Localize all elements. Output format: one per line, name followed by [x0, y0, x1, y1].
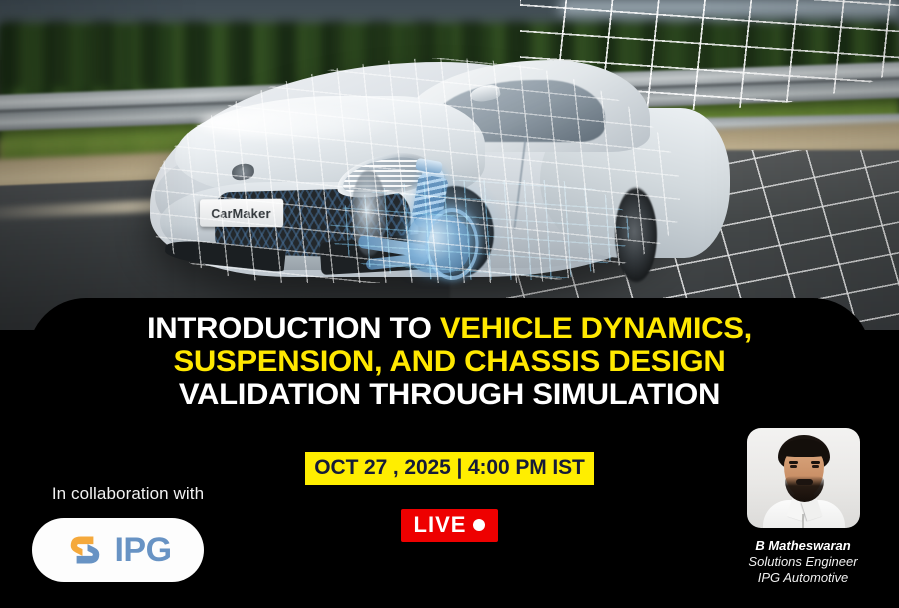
- speaker-eyebrow-right: [811, 461, 820, 464]
- speaker-name: B Matheswaran: [735, 538, 871, 554]
- speaker-eye-left: [790, 465, 797, 468]
- title-line-2: SUSPENSION, AND CHASSIS DESIGN: [0, 345, 899, 378]
- webinar-promo-banner: CarMaker INTRODUCTION TO VEHICLE DYNAMIC…: [0, 0, 899, 608]
- speaker-block: B Matheswaran Solutions Engineer IPG Aut…: [735, 428, 871, 586]
- live-label: LIVE: [414, 513, 467, 537]
- car-wireframe-mesh-blue: [330, 180, 630, 280]
- ipg-swoosh-icon: [64, 529, 106, 571]
- title-line-1-white: INTRODUCTION TO: [147, 312, 440, 345]
- event-date-badge: OCT 27 , 2025 | 4:00 PM IST: [305, 452, 593, 485]
- title-line-1-yellow: VEHICLE DYNAMICS,: [440, 312, 752, 345]
- speaker-shirt-placket: [802, 514, 804, 528]
- speaker-eye-right: [812, 465, 819, 468]
- speaker-eyebrow-left: [789, 461, 798, 464]
- collaboration-caption: In collaboration with: [32, 484, 224, 504]
- live-badge: LIVE: [401, 509, 499, 542]
- speaker-role: Solutions Engineer: [735, 554, 871, 570]
- speaker-moustache: [796, 479, 813, 485]
- page-title: INTRODUCTION TO VEHICLE DYNAMICS, SUSPEN…: [0, 312, 899, 411]
- speaker-company: IPG Automotive: [735, 570, 871, 586]
- ipg-logo-text: IPG: [114, 533, 171, 567]
- title-line-3: VALIDATION THROUGH SIMULATION: [0, 378, 899, 411]
- title-line-1: INTRODUCTION TO VEHICLE DYNAMICS,: [0, 312, 899, 345]
- record-dot-icon: [473, 519, 485, 531]
- speaker-avatar: [747, 428, 860, 528]
- hero-image: CarMaker: [0, 0, 899, 330]
- ipg-logo[interactable]: IPG: [32, 518, 204, 582]
